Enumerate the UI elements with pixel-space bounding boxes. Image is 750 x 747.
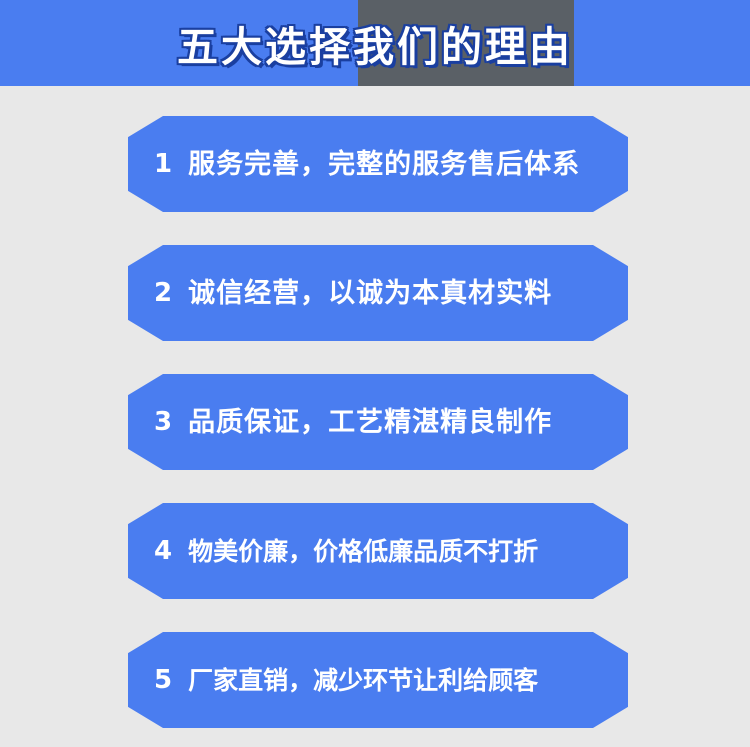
- list-item: 2 诚信经营，以诚为本真材实料: [0, 231, 750, 360]
- reason-number-5: 5: [154, 667, 172, 693]
- list-item: 4 物美价廉，价格低廉品质不打折: [0, 489, 750, 618]
- reason-number-2: 2: [154, 280, 172, 306]
- reason-banner-5: 5 厂家直销，减少环节让利给顾客: [128, 632, 628, 728]
- reason-text-4: 物美价廉，价格低廉品质不打折: [188, 539, 538, 564]
- reason-number-4: 4: [154, 538, 172, 564]
- reason-number-1: 1: [154, 151, 172, 177]
- list-item: 5 厂家直销，减少环节让利给顾客: [0, 618, 750, 747]
- reason-text-3: 品质保证，工艺精湛精良制作: [188, 409, 552, 436]
- reason-text-5: 厂家直销，减少环节让利给顾客: [188, 668, 538, 693]
- promo-poster: 五大选择我们的理由 1 服务完善，完整的服务售后体系 2 诚信经营，以诚为本真材…: [0, 0, 750, 731]
- reason-banner-3: 3 品质保证，工艺精湛精良制作: [128, 374, 628, 470]
- poster-header: 五大选择我们的理由: [0, 0, 750, 86]
- reasons-list: 1 服务完善，完整的服务售后体系 2 诚信经营，以诚为本真材实料 3 品质保证，…: [0, 86, 750, 747]
- page-title: 五大选择我们的理由: [0, 0, 750, 86]
- reason-text-2: 诚信经营，以诚为本真材实料: [188, 280, 552, 307]
- reason-number-3: 3: [154, 409, 172, 435]
- reason-text-1: 服务完善，完整的服务售后体系: [188, 151, 580, 178]
- list-item: 1 服务完善，完整的服务售后体系: [0, 102, 750, 231]
- reason-banner-4: 4 物美价廉，价格低廉品质不打折: [128, 503, 628, 599]
- reason-banner-2: 2 诚信经营，以诚为本真材实料: [128, 245, 628, 341]
- reason-banner-1: 1 服务完善，完整的服务售后体系: [128, 116, 628, 212]
- list-item: 3 品质保证，工艺精湛精良制作: [0, 360, 750, 489]
